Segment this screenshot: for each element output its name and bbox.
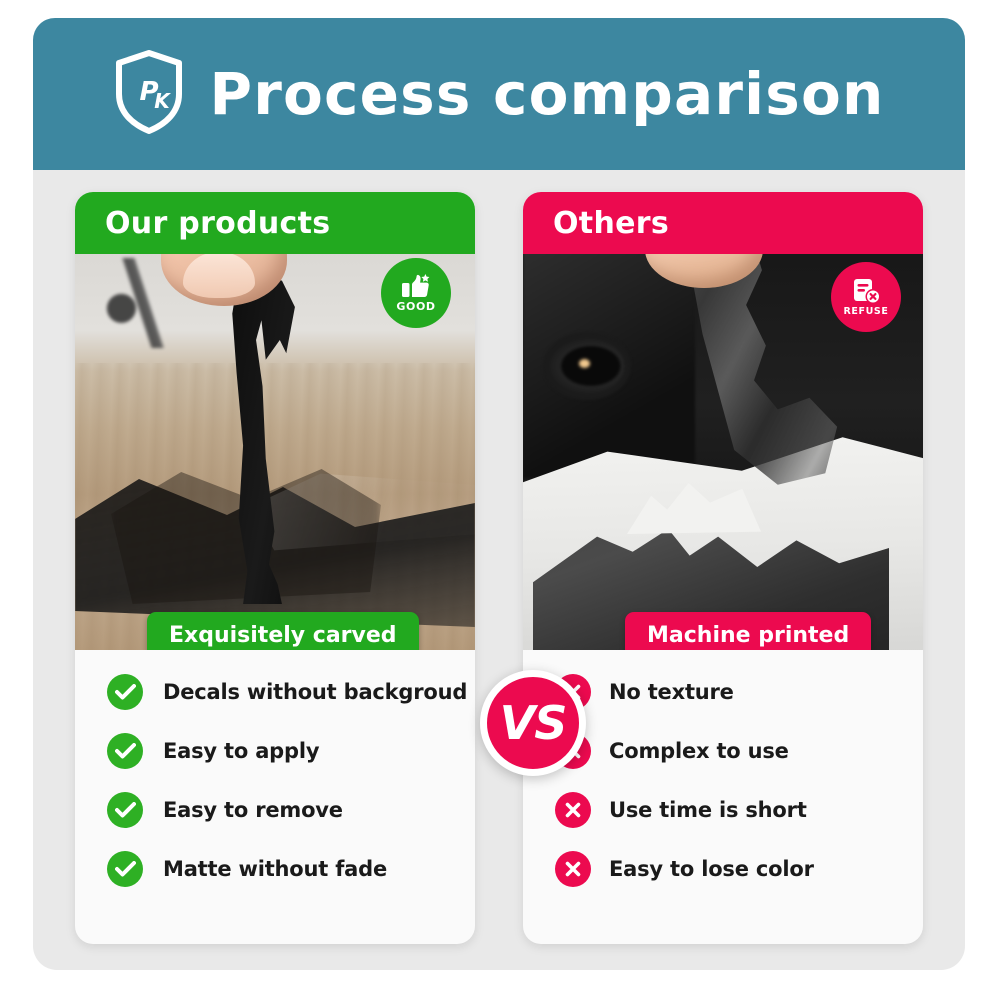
list-item: Easy to lose color bbox=[555, 839, 899, 898]
exquisitely-carved-caption: Exquisitely carved bbox=[147, 612, 419, 650]
exquisitely-carved-label: Exquisitely carved bbox=[169, 623, 397, 648]
others-card: Others bbox=[523, 192, 923, 944]
feature-label: Use time is short bbox=[609, 798, 807, 822]
our-products-card-header: Our products bbox=[75, 192, 475, 254]
feature-label: Easy to lose color bbox=[609, 857, 814, 881]
list-item: Easy to apply bbox=[107, 721, 451, 780]
machine-printed-caption: Machine printed bbox=[625, 612, 871, 650]
document-x-icon bbox=[851, 278, 881, 306]
page-title: Process comparison bbox=[210, 65, 885, 123]
list-item: Easy to remove bbox=[107, 780, 451, 839]
check-circle-icon bbox=[107, 851, 143, 887]
feature-label: No texture bbox=[609, 680, 734, 704]
header-banner: P K Process comparison bbox=[33, 18, 965, 170]
our-products-photo: GOOD Exquisitely carved bbox=[75, 240, 475, 650]
vs-label: VS bbox=[500, 696, 567, 750]
machine-printed-label: Machine printed bbox=[647, 623, 849, 648]
svg-text:K: K bbox=[154, 89, 171, 113]
vs-badge: VS bbox=[480, 670, 586, 776]
list-item: Use time is short bbox=[555, 780, 899, 839]
others-title: Others bbox=[553, 206, 669, 241]
process-comparison-poster: P K Process comparison Our products bbox=[0, 0, 1000, 1000]
check-circle-icon bbox=[107, 674, 143, 710]
feature-label: Easy to apply bbox=[163, 739, 319, 763]
comparison-panel: Our products GOOD bbox=[33, 170, 965, 970]
refuse-badge: REFUSE bbox=[831, 262, 901, 332]
thumbs-up-star-icon bbox=[401, 274, 431, 300]
cross-circle-icon bbox=[555, 851, 591, 887]
others-card-header: Others bbox=[523, 192, 923, 254]
feature-label: Easy to remove bbox=[163, 798, 343, 822]
others-feature-list: No texture Complex to use bbox=[523, 662, 923, 898]
list-item: No texture bbox=[555, 662, 899, 721]
our-products-card: Our products GOOD bbox=[75, 192, 475, 944]
check-circle-icon bbox=[107, 792, 143, 828]
list-item: Matte without fade bbox=[107, 839, 451, 898]
our-products-feature-list: Decals without backgroud Easy to apply bbox=[75, 662, 475, 898]
good-badge: GOOD bbox=[381, 258, 451, 328]
list-item: Decals without backgroud bbox=[107, 662, 451, 721]
camera-lens bbox=[549, 338, 625, 394]
feature-label: Matte without fade bbox=[163, 857, 387, 881]
good-badge-caption: GOOD bbox=[396, 301, 435, 312]
refuse-badge-caption: REFUSE bbox=[844, 307, 889, 317]
others-photo: REFUSE Machine printed bbox=[523, 240, 923, 650]
our-products-title: Our products bbox=[105, 206, 330, 241]
feature-label: Decals without backgroud bbox=[163, 680, 467, 704]
feature-label: Complex to use bbox=[609, 739, 789, 763]
cross-circle-icon bbox=[555, 792, 591, 828]
shield-icon: P K bbox=[114, 50, 184, 134]
list-item: Complex to use bbox=[555, 721, 899, 780]
check-circle-icon bbox=[107, 733, 143, 769]
